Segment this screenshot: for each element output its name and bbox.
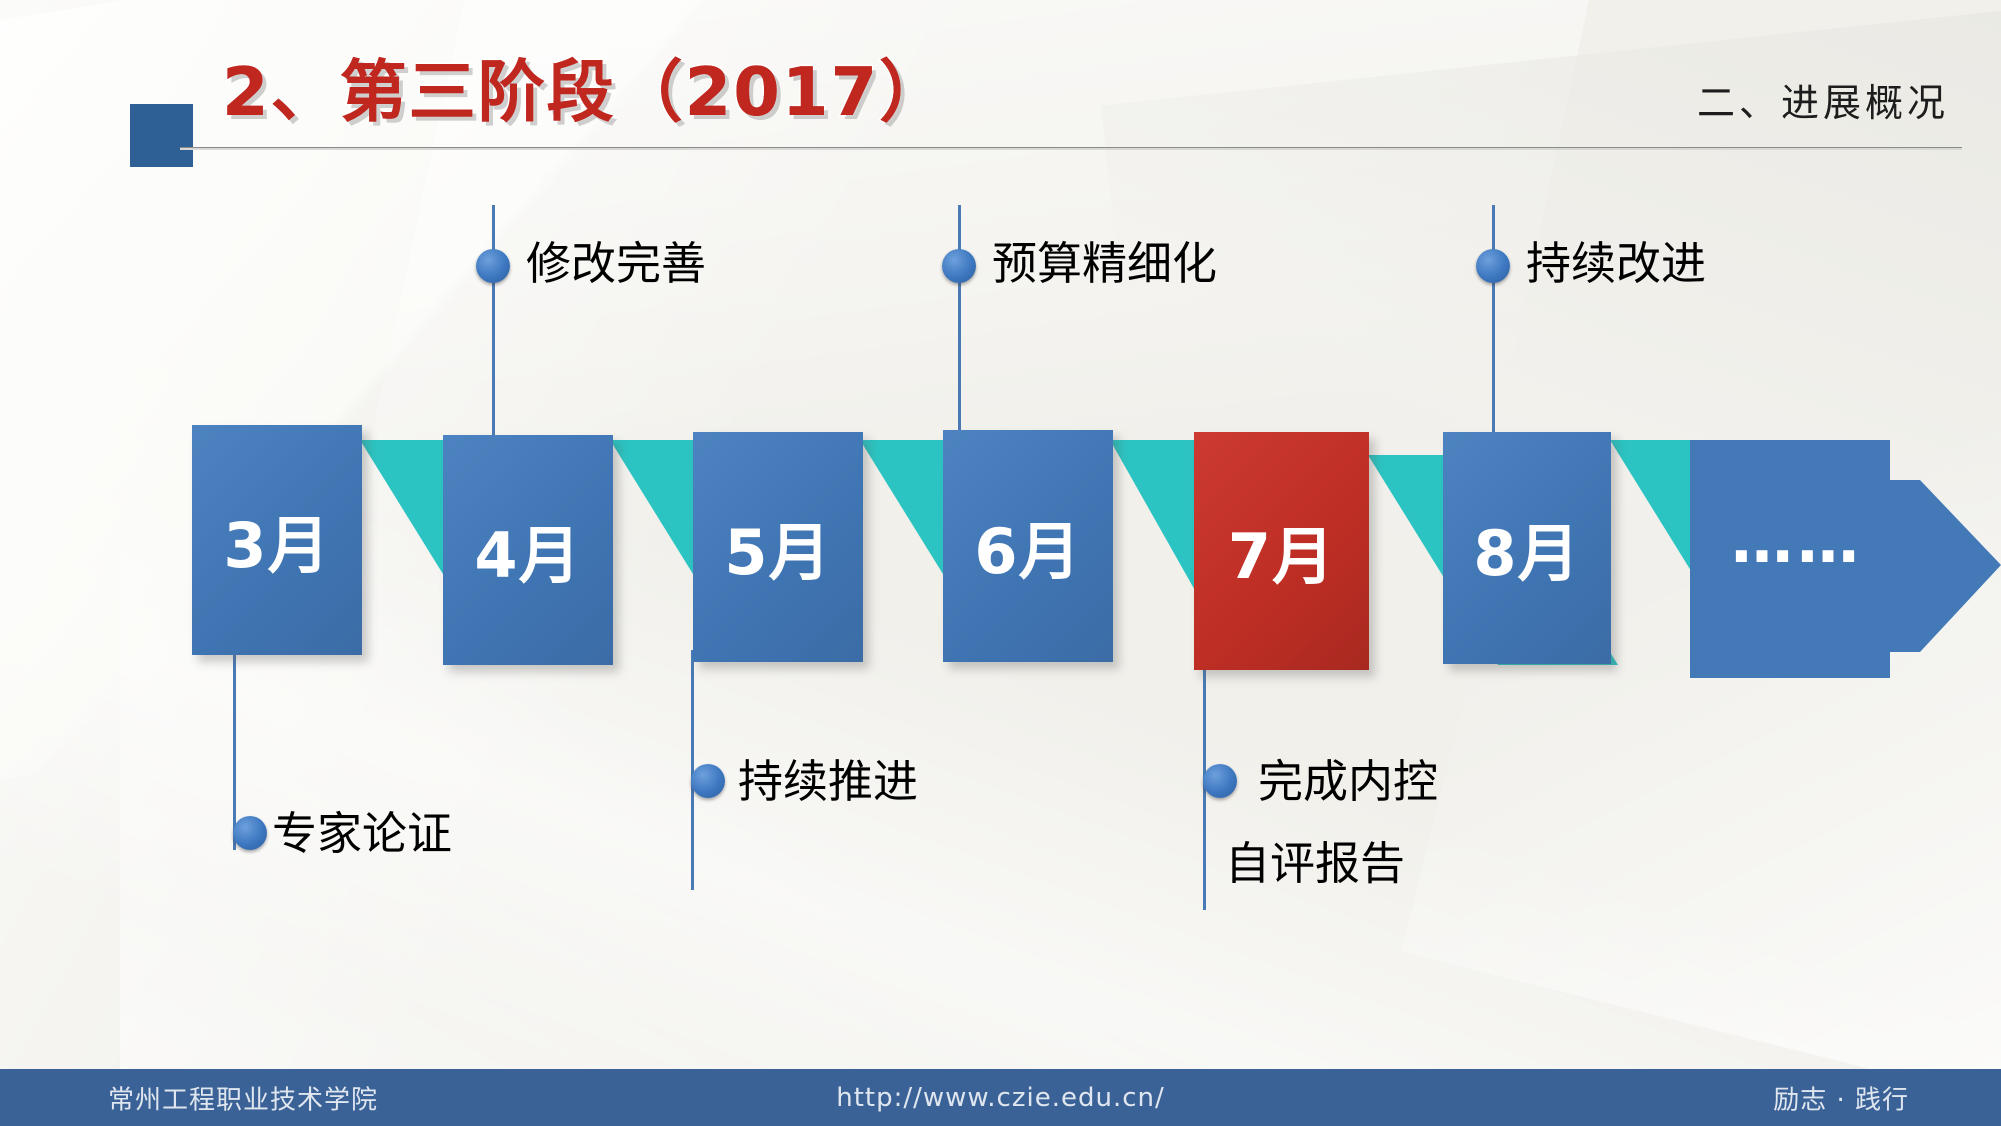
- timeline-month-label: 3月: [223, 495, 330, 585]
- timeline-month-box-highlight[interactable]: 7月: [1194, 432, 1369, 670]
- timeline: 3月 4月 5月 6月 7月 8月 …… 修改完善 预算精细化 持续改进 专家论…: [0, 0, 2001, 1126]
- callout-dot: [942, 249, 976, 283]
- timeline-month-label: 8月: [1473, 503, 1580, 593]
- timeline-month-label: 7月: [1228, 506, 1335, 596]
- lead-line-6yue: [958, 205, 961, 445]
- timeline-month-box[interactable]: 6月: [943, 430, 1113, 662]
- timeline-month-box[interactable]: 3月: [192, 425, 362, 655]
- callout-label-line2: 自评报告: [1225, 832, 1405, 896]
- timeline-month-box[interactable]: 5月: [693, 432, 863, 662]
- callout-label: 完成内控: [1258, 750, 1438, 814]
- timeline-month-label: 6月: [974, 501, 1081, 591]
- slide: 2、第三阶段（2017） 2、第三阶段（2017） 二、进展概况 3月 4月: [0, 0, 2001, 1126]
- callout-label: 预算精细化: [992, 232, 1217, 296]
- timeline-end-box[interactable]: ……: [1694, 440, 1900, 668]
- callout-label: 持续推进: [738, 750, 918, 814]
- callout-dot: [1476, 249, 1510, 283]
- lead-line-4yue: [492, 205, 495, 445]
- timeline-month-label: 5月: [724, 502, 831, 592]
- lead-line-3yue: [233, 650, 236, 850]
- callout-label: 修改完善: [526, 232, 706, 296]
- timeline-month-box[interactable]: 4月: [443, 435, 613, 665]
- callout-label: 专家论证: [272, 802, 452, 866]
- timeline-month-label: 4月: [474, 505, 581, 595]
- callout-dot: [1203, 764, 1237, 798]
- callout-dot: [233, 816, 267, 850]
- lead-line-8yue: [1492, 205, 1495, 445]
- callout-dot: [476, 249, 510, 283]
- callout-dot: [691, 764, 725, 798]
- callout-label: 持续改进: [1526, 232, 1706, 296]
- timeline-month-box[interactable]: 8月: [1443, 432, 1611, 664]
- timeline-end-label: ……: [1731, 504, 1863, 577]
